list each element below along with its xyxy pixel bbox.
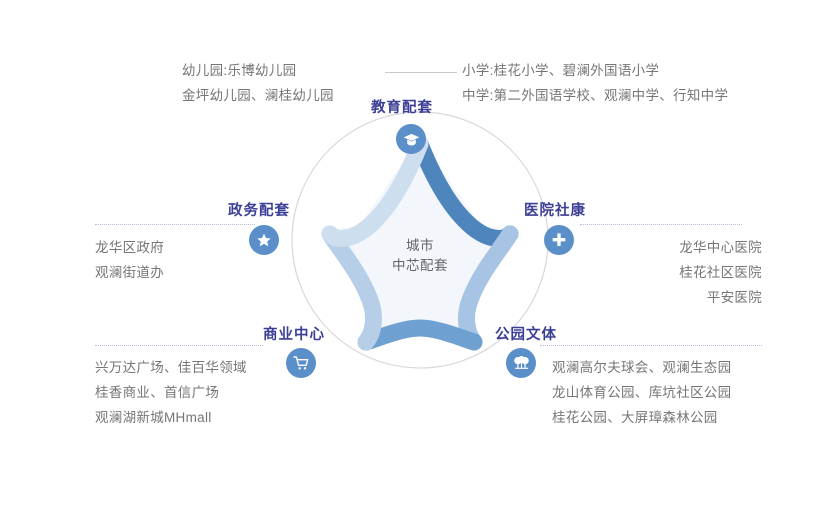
list-item: 桂花社区医院 bbox=[634, 260, 762, 285]
rule-commercial bbox=[95, 345, 263, 346]
list-commercial: 兴万达广场、佳百华领域 桂香商业、首信广场 观澜湖新城MHmall bbox=[95, 355, 247, 430]
list-government: 龙华区政府 观澜街道办 bbox=[95, 235, 164, 285]
list-item: 龙山体育公园、库坑社区公园 bbox=[552, 380, 731, 405]
list-item: 观澜高尔夫球会、观澜生态园 bbox=[552, 355, 731, 380]
list-item: 观澜湖新城MHmall bbox=[95, 405, 247, 430]
rule-education bbox=[385, 72, 457, 73]
node-education-label: 教育配套 bbox=[371, 96, 433, 117]
node-medical-circle[interactable] bbox=[544, 225, 574, 255]
node-education-circle[interactable] bbox=[396, 124, 426, 154]
list-item: 桂香商业、首信广场 bbox=[95, 380, 247, 405]
node-government-label: 政务配套 bbox=[228, 199, 290, 220]
list-item: 金坪幼儿园、澜桂幼儿园 bbox=[182, 83, 334, 108]
node-park-label: 公园文体 bbox=[495, 323, 557, 344]
star-diagram bbox=[290, 110, 550, 390]
star-icon bbox=[256, 232, 272, 248]
list-item: 桂花公园、大屏璋森林公园 bbox=[552, 405, 731, 430]
list-medical: 龙华中心医院 桂花社区医院 平安医院 bbox=[634, 235, 762, 310]
list-item: 平安医院 bbox=[634, 285, 762, 310]
list-item: 龙华中心医院 bbox=[634, 235, 762, 260]
shopping-cart-icon bbox=[293, 355, 309, 371]
node-medical-label: 医院社康 bbox=[524, 199, 586, 220]
list-item: 兴万达广场、佳百华领域 bbox=[95, 355, 247, 380]
node-commercial-circle[interactable] bbox=[286, 348, 316, 378]
node-government-circle[interactable] bbox=[249, 225, 279, 255]
graduation-cap-icon bbox=[403, 132, 420, 147]
park-trees-icon bbox=[513, 355, 530, 371]
rule-medical bbox=[580, 224, 742, 225]
node-commercial-label: 商业中心 bbox=[263, 323, 325, 344]
infographic-canvas: 城市 中芯配套 教育配套 政务配套 医院社康 bbox=[0, 0, 840, 515]
list-item: 观澜街道办 bbox=[95, 260, 164, 285]
list-item: 小学:桂花小学、碧澜外国语小学 bbox=[462, 58, 728, 83]
list-education-right: 小学:桂花小学、碧澜外国语小学 中学:第二外国语学校、观澜中学、行知中学 bbox=[462, 58, 728, 108]
list-item: 幼儿园:乐博幼儿园 bbox=[182, 58, 334, 83]
rule-government bbox=[95, 224, 255, 225]
medical-cross-icon bbox=[551, 232, 567, 248]
list-item: 龙华区政府 bbox=[95, 235, 164, 260]
star-arm-bottom bbox=[366, 328, 474, 342]
list-item: 中学:第二外国语学校、观澜中学、行知中学 bbox=[462, 83, 728, 108]
node-park-circle[interactable] bbox=[506, 348, 536, 378]
list-education-left: 幼儿园:乐博幼儿园 金坪幼儿园、澜桂幼儿园 bbox=[182, 58, 334, 108]
rule-park bbox=[540, 345, 762, 346]
list-park: 观澜高尔夫球会、观澜生态园 龙山体育公园、库坑社区公园 桂花公园、大屏璋森林公园 bbox=[552, 355, 731, 430]
